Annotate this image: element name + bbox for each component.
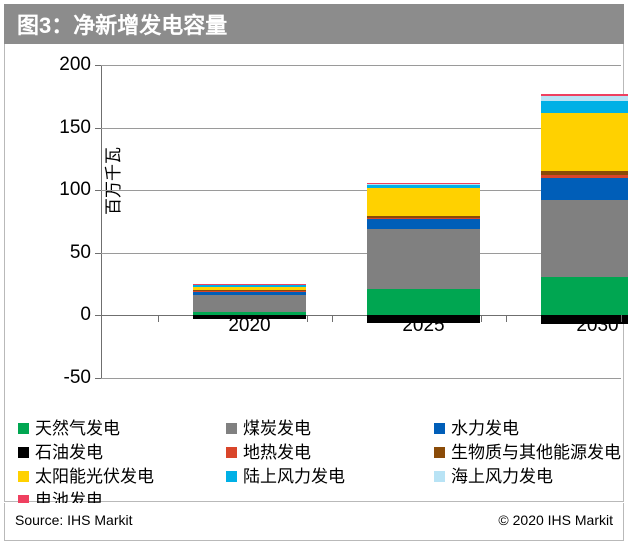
- bar-segment: [193, 292, 306, 296]
- bar-segment: [541, 178, 628, 201]
- legend-swatch-orangered: [226, 447, 237, 458]
- bar-segment: [367, 289, 480, 315]
- legend-swatch-lightblue: [434, 471, 445, 482]
- bar-segment: [367, 188, 480, 216]
- legend-swatch-green: [18, 423, 29, 434]
- footer-source: Source: IHS Markit: [15, 512, 132, 528]
- legend-item-label: 海上风力发电: [451, 468, 553, 485]
- legend-item-label: 石油发电: [35, 444, 103, 461]
- chart-card: 百万千瓦 200150100500-50 202020252030 天然气发电石…: [4, 44, 624, 502]
- y-axis-tick-label: -50: [21, 368, 91, 387]
- y-axis-tick-label: 100: [21, 180, 91, 199]
- bar-segment: [367, 183, 480, 184]
- legend-item[interactable]: 生物质与其他能源发电: [434, 440, 621, 464]
- bar-segment: [541, 200, 628, 276]
- legend-item-label: 天然气发电: [35, 420, 120, 437]
- y-axis-tick-label: 150: [21, 118, 91, 137]
- legend-column: 煤炭发电地热发电陆上风力发电: [226, 416, 345, 488]
- bar-segment: [367, 184, 480, 185]
- footer-copyright: © 2020 IHS Markit: [498, 512, 613, 528]
- legend-item[interactable]: 太阳能光伏发电: [18, 464, 154, 488]
- legend-swatch-black: [18, 447, 29, 458]
- x-axis-tick: [481, 315, 482, 322]
- x-axis-tick-label: 2025: [367, 315, 480, 337]
- legend-item[interactable]: 海上风力发电: [434, 464, 621, 488]
- legend-column: 天然气发电石油发电太阳能光伏发电电池发电: [18, 416, 154, 512]
- x-axis-tick: [158, 315, 159, 322]
- title-bar: 图3：净新增发电容量: [4, 4, 624, 44]
- x-axis-tick: [101, 315, 102, 322]
- bar-segment: [193, 295, 306, 311]
- legend-item[interactable]: 石油发电: [18, 440, 154, 464]
- legend-item[interactable]: 煤炭发电: [226, 416, 345, 440]
- bar-segment: [541, 277, 628, 316]
- x-axis-tick: [506, 315, 507, 322]
- x-axis-tick: [621, 315, 622, 322]
- bar-segment: [541, 96, 628, 101]
- legend-column: 水力发电生物质与其他能源发电海上风力发电: [434, 416, 621, 488]
- bar-segment: [193, 287, 306, 291]
- bar-segment: [367, 218, 480, 219]
- bar-segment: [367, 185, 480, 189]
- bar-segment: [193, 290, 306, 291]
- y-axis-tick: [95, 190, 101, 191]
- bar-segment: [193, 285, 306, 287]
- y-axis-tick: [95, 253, 101, 254]
- legend-item-label: 煤炭发电: [243, 420, 311, 437]
- x-axis-tick: [307, 315, 308, 322]
- y-axis-tick-label: 50: [21, 243, 91, 262]
- y-axis-line: [101, 65, 102, 378]
- y-axis-tick-label: 0: [21, 305, 91, 324]
- legend-item-label: 水力发电: [451, 420, 519, 437]
- bar-segment: [541, 175, 628, 178]
- legend-swatch-gray: [226, 423, 237, 434]
- bar-segment: [367, 219, 480, 229]
- y-axis-tick: [95, 378, 101, 379]
- bar-segment: [193, 291, 306, 292]
- legend-item-label: 太阳能光伏发电: [35, 468, 154, 485]
- legend-item[interactable]: 陆上风力发电: [226, 464, 345, 488]
- legend-swatch-blue: [434, 423, 445, 434]
- legend-item-label: 地热发电: [243, 444, 311, 461]
- bar-segment: [541, 101, 628, 112]
- legend-item[interactable]: 天然气发电: [18, 416, 154, 440]
- chart-page: 图3：净新增发电容量 百万千瓦 200150100500-50 20202025…: [0, 0, 628, 545]
- x-axis-tick-label: 2030: [541, 315, 628, 337]
- y-axis-tick-label: 200: [21, 55, 91, 74]
- x-axis-tick: [332, 315, 333, 322]
- page-title: 图3：净新增发电容量: [4, 8, 227, 40]
- legend-item[interactable]: 水力发电: [434, 416, 621, 440]
- bar-segment: [367, 229, 480, 289]
- legend-item-label: 陆上风力发电: [243, 468, 345, 485]
- bar-segment: [541, 94, 628, 96]
- footer: Source: IHS Markit © 2020 IHS Markit: [4, 503, 624, 541]
- legend-swatch-yellow: [18, 471, 29, 482]
- bar-segment: [367, 216, 480, 218]
- y-axis-tick: [95, 128, 101, 129]
- gridline: [101, 378, 621, 379]
- y-axis-title: 百万千瓦: [99, 147, 124, 215]
- legend-item-label: 生物质与其他能源发电: [451, 444, 621, 461]
- x-axis-tick-label: 2020: [193, 315, 306, 337]
- y-axis-tick: [95, 65, 101, 66]
- legend-item[interactable]: 地热发电: [226, 440, 345, 464]
- plot-area: 百万千瓦 200150100500-50 202020252030: [101, 65, 621, 378]
- bar-segment: [541, 113, 628, 172]
- legend-swatch-brown: [434, 447, 445, 458]
- bar-segment: [541, 171, 628, 175]
- legend-swatch-cyan: [226, 471, 237, 482]
